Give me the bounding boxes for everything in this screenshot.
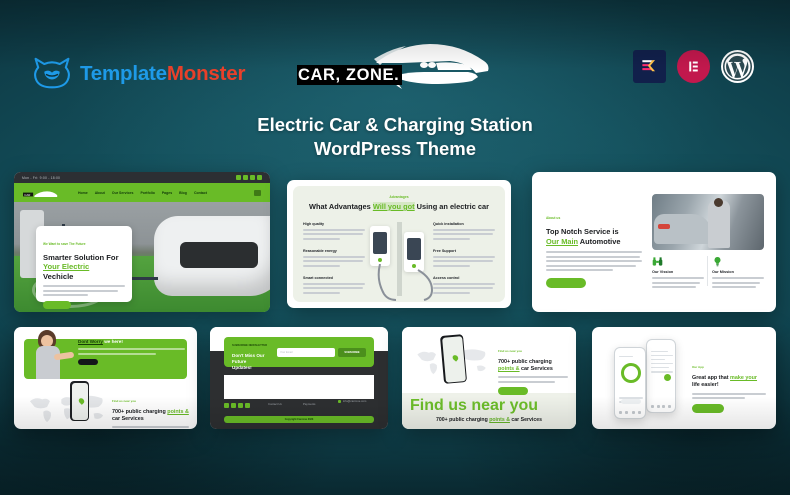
charging-learnmore-button[interactable]	[498, 387, 528, 395]
hero-text-card: We Want to save The Future Smarter Solut…	[36, 226, 132, 302]
hero-car-grille	[180, 242, 258, 268]
map-eyebrow: Find us near you	[112, 399, 136, 403]
advantages-left-column: High quality Reasonable energy Smart con…	[303, 222, 365, 302]
carzone-logo: CAR, ZONE.	[297, 41, 492, 97]
about-text-block: About us Top Notch Service is Our Main A…	[546, 206, 642, 288]
advantages-heading: What Advantages Will you got Using an el…	[303, 202, 495, 212]
screenshot-advantages[interactable]: Advantages What Advantages Will you got …	[287, 180, 511, 308]
about-mission-box: Our Mission	[712, 256, 764, 291]
hero-photo: We Want to save The Future Smarter Solut…	[14, 202, 270, 312]
footer-social-icons[interactable]	[224, 403, 258, 408]
hero-body-text	[43, 285, 125, 296]
about-heading: Top Notch Service is Our Main Automotive	[546, 227, 642, 246]
about-eyebrow: About us	[546, 216, 560, 220]
about-vission-title: Our Vission	[652, 270, 704, 274]
hero-heading: Smarter Solution For Your Electric Vechi…	[43, 253, 125, 281]
footer-brand-column	[224, 375, 258, 408]
footer-email: info@carzone.com	[338, 399, 374, 403]
app-eyebrow: Our App	[692, 365, 704, 369]
screenshot-footer[interactable]: SUBSCRIBE NEWSLETTER Don't Miss Our Futu…	[210, 327, 388, 429]
screenshot-cta-map[interactable]: Have a car problem? Dont Worry we here! …	[14, 327, 197, 429]
charging-stations-image	[366, 222, 432, 302]
hero-social-icons	[236, 175, 262, 180]
nav-item-portfolio[interactable]: Portfolio	[140, 191, 154, 195]
charging-bottom-band: Find us near you 700+ public charging po…	[410, 397, 568, 424]
newsletter-heading: Don't Miss Our FutureUpdates!	[232, 353, 277, 371]
about-services-button[interactable]	[546, 278, 586, 288]
cta-banner-text: Have a car problem? Dont Worry we here!	[78, 333, 189, 365]
app-text-block: Our App Great app that make your life ea…	[692, 355, 766, 413]
poster-title: Electric Car & Charging Station WordPres…	[0, 113, 790, 162]
plugin-badges	[633, 50, 754, 83]
lightbulb-icon	[712, 256, 723, 267]
poster-title-line1: Electric Car & Charging Station	[0, 113, 790, 137]
newsletter-eyebrow: SUBSCRIBE NEWSLETTER	[232, 344, 267, 347]
hero-readmore-button[interactable]	[43, 301, 71, 309]
map-heading: 700+ public charging points & car Servic…	[112, 409, 189, 423]
poster-title-line2: WordPress Theme	[0, 137, 790, 161]
newsletter-email-input[interactable]: Your Email	[277, 348, 335, 357]
app-heading: Great app that make your life easier!	[692, 375, 766, 390]
elementor-badge	[677, 50, 710, 83]
screenshot-hero-home[interactable]: Mon - Fri: 9:00 - 18:00 CAR Home About O…	[14, 172, 270, 312]
about-divider	[707, 256, 708, 286]
newsletter-placeholder: Your Email	[280, 351, 292, 354]
app-action-pill	[621, 399, 641, 404]
feature-item: Quick installation	[433, 222, 495, 240]
world-map-icon	[24, 387, 110, 425]
poster-background: TemplateMonster CAR, ZONE.	[0, 0, 790, 495]
hero-topbar-hours: Mon - Fri: 9:00 - 18:00	[22, 176, 60, 180]
elementskit-badge	[633, 50, 666, 83]
advantages-right-column: Quick installation Free Support Access c…	[433, 222, 495, 302]
screenshot-mobile-app[interactable]: Our App Great app that make your life ea…	[592, 327, 776, 429]
map-pin-icon	[77, 397, 85, 405]
hero-navbar[interactable]: CAR Home About Our Services Portfolio Pa…	[14, 183, 270, 202]
map-phone-mockup	[70, 381, 89, 421]
nav-item-pages[interactable]: Pages	[162, 191, 172, 195]
nav-item-home[interactable]: Home	[78, 191, 88, 195]
about-body-text	[546, 251, 642, 271]
app-phone-front	[614, 347, 646, 419]
charging-bottom-eyebrow: Find us near you	[410, 397, 538, 414]
charge-progress-ring	[621, 363, 641, 383]
templatemonster-wordmark: TemplateMonster	[80, 62, 245, 86]
app-phone-back	[646, 339, 676, 413]
newsletter-box: SUBSCRIBE NEWSLETTER Don't Miss Our Futu…	[224, 337, 374, 367]
charging-phone-mockup	[440, 334, 467, 384]
nav-item-blog[interactable]: Blog	[179, 191, 187, 195]
footer-link[interactable]: Payments	[303, 402, 328, 406]
advantages-eyebrow: Advantages	[303, 195, 495, 199]
nav-item-services[interactable]: Our Services	[112, 191, 134, 195]
about-photo	[652, 194, 764, 250]
nav-item-about[interactable]: About	[95, 191, 105, 195]
charging-bottom-heading: 700+ public charging points & car Servic…	[410, 417, 568, 424]
charging-heading: 700+ public charging points & car Servic…	[498, 359, 568, 373]
hero-nav-menu[interactable]: Home About Our Services Portfolio Pages …	[78, 191, 207, 195]
hero-eyebrow: We Want to save The Future	[43, 242, 86, 246]
svg-text:CAR: CAR	[24, 193, 30, 197]
presenter-illustration	[28, 331, 72, 379]
footer-columns: Quick Links Home About Services Contact …	[224, 375, 374, 408]
feature-item: Smart connected	[303, 276, 365, 294]
nav-item-contact[interactable]: Contact	[194, 191, 207, 195]
cta-heading: Have a car problem? Dont Worry we here!	[78, 333, 189, 345]
charging-points-text: Find us near you 700+ public charging po…	[498, 339, 568, 395]
about-vission-box: Our Vission	[652, 256, 704, 291]
carzone-wordmark: CAR, ZONE.	[297, 66, 402, 85]
hero-nav-logo: CAR	[23, 187, 61, 198]
footer-link[interactable]: Contact Us	[268, 402, 293, 406]
feature-item: Free Support	[433, 249, 495, 267]
charging-eyebrow: Find us near you	[498, 349, 522, 353]
newsletter-subscribe-button[interactable]: SUBSCRIBE	[338, 348, 366, 357]
footer-copyright-bar: Copyright Carzone 2023	[224, 416, 374, 423]
feature-item: High quality	[303, 222, 365, 240]
binoculars-icon	[652, 256, 663, 267]
about-mission-title: Our Mission	[712, 270, 764, 274]
about-value-boxes: Our Vission Our Mission	[652, 256, 764, 291]
screenshot-about[interactable]: About us Top Notch Service is Our Main A…	[532, 172, 776, 312]
cta-quote-button[interactable]	[78, 359, 98, 365]
screenshot-charging-points[interactable]: Find us near you 700+ public charging po…	[402, 327, 576, 429]
map-section: Find us near you 700+ public charging po…	[14, 385, 197, 429]
monster-cat-icon	[33, 57, 71, 90]
hero-topbar: Mon - Fri: 9:00 - 18:00	[14, 172, 270, 183]
charging-points-text: Find us near you 700+ public charging po…	[112, 389, 189, 429]
cart-icon[interactable]	[254, 190, 261, 196]
wordpress-badge	[721, 50, 754, 83]
map-pin-icon	[451, 354, 459, 362]
feature-item: Access control	[433, 276, 495, 294]
app-status-dot	[664, 374, 671, 381]
templatemonster-logo: TemplateMonster	[33, 57, 245, 90]
feature-item: Reasonable energy	[303, 249, 365, 267]
app-download-button[interactable]	[692, 404, 724, 413]
